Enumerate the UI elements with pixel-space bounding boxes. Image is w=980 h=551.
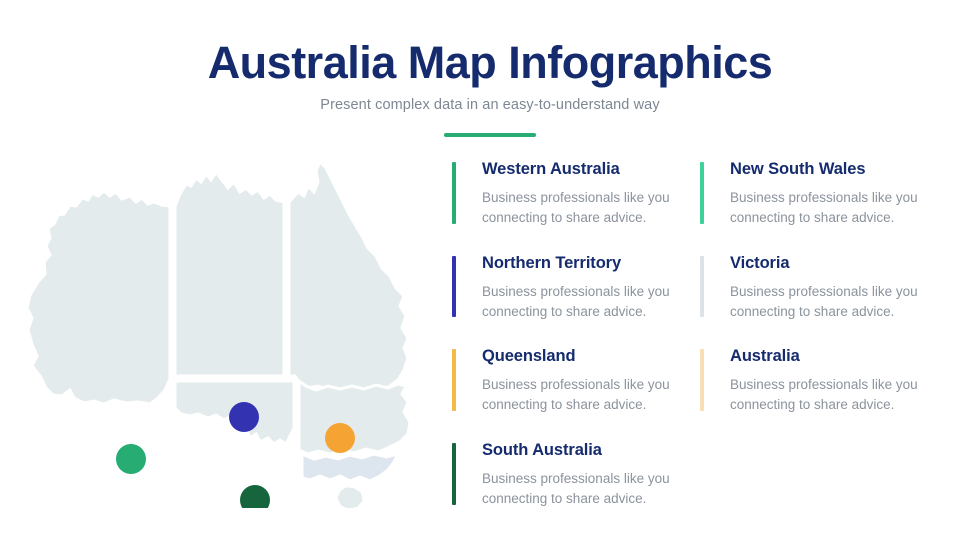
legend-accent-bar-south-australia [452,443,456,505]
marker-northern-territory[interactable] [229,402,259,432]
legend-description-south-australia: Business professionals like you connecti… [482,461,692,509]
legend-title-new-south-wales: New South Wales [730,160,948,180]
marker-western-australia[interactable] [116,444,146,474]
legend-accent-bar-queensland [452,349,456,411]
legend-column-right: New South Wales Business professionals l… [700,160,948,441]
legend-item-victoria[interactable]: Victoria Business professionals like you… [700,254,948,322]
map-region-northern-territory[interactable] [175,172,284,376]
legend-description-australia: Business professionals like you connecti… [730,367,940,415]
legend-item-new-south-wales[interactable]: New South Wales Business professionals l… [700,160,948,228]
legend-item-western-australia[interactable]: Western Australia Business professionals… [452,160,700,228]
legend-title-queensland: Queensland [482,347,700,367]
marker-queensland[interactable] [325,423,355,453]
legend-item-northern-territory[interactable]: Northern Territory Business professional… [452,254,700,322]
legend-title-northern-territory: Northern Territory [482,254,700,274]
legend-description-western-australia: Business professionals like you connecti… [482,180,692,228]
australia-map-svg [18,158,438,508]
legend-title-victoria: Victoria [730,254,948,274]
legend-panel: Western Australia Business professionals… [452,160,964,530]
map-region-western-australia[interactable] [27,191,170,404]
title-underline-rule [444,133,536,137]
australia-map-panel [18,158,438,508]
legend-accent-bar-victoria [700,256,704,318]
legend-description-victoria: Business professionals like you connecti… [730,274,940,322]
legend-description-queensland: Business professionals like you connecti… [482,367,692,415]
map-region-new-south-wales[interactable] [299,381,410,454]
page-title: Australia Map Infographics [0,0,980,88]
legend-title-australia: Australia [730,347,948,367]
page-subtitle: Present complex data in an easy-to-under… [0,88,980,113]
marker-south-australia[interactable] [240,485,270,508]
map-region-tasmania[interactable] [336,486,364,508]
map-region-victoria[interactable] [302,454,398,481]
legend-accent-bar-australia [700,349,704,411]
legend-accent-bar-northern-territory [452,256,456,318]
legend-item-south-australia[interactable]: South Australia Business professionals l… [452,441,700,509]
legend-accent-bar-western-australia [452,162,456,224]
legend-column-left: Western Australia Business professionals… [452,160,700,535]
legend-accent-bar-new-south-wales [700,162,704,224]
map-region-queensland[interactable] [289,162,408,391]
legend-title-south-australia: South Australia [482,441,700,461]
legend-title-western-australia: Western Australia [482,160,700,180]
legend-description-northern-territory: Business professionals like you connecti… [482,274,692,322]
legend-item-queensland[interactable]: Queensland Business professionals like y… [452,347,700,415]
page-header: Australia Map Infographics Present compl… [0,0,980,137]
legend-item-australia[interactable]: Australia Business professionals like yo… [700,347,948,415]
legend-description-new-south-wales: Business professionals like you connecti… [730,180,940,228]
